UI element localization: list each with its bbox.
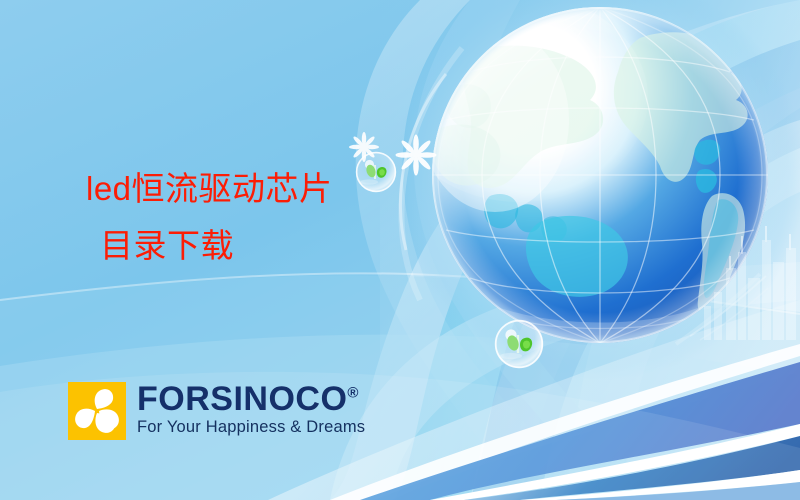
logo-text-block: FORSINOCO® For Your Happiness & Dreams (137, 382, 365, 437)
bubble-sprout-lower (495, 320, 543, 368)
logo-tagline: For Your Happiness & Dreams (137, 418, 365, 437)
logo-wordmark: FORSINOCO® (137, 383, 365, 416)
headline-line-2: 目录下载 (86, 225, 416, 268)
poster-canvas: led恒流驱动芯片 目录下载 FORSINOCO® For Your Happi… (0, 0, 800, 500)
registered-trademark-icon: ® (347, 385, 358, 402)
forsinoco-pinwheel-mark (68, 382, 126, 440)
headline-line-1: led恒流驱动芯片 (86, 170, 333, 207)
brand-logo[interactable]: FORSINOCO® For Your Happiness & Dreams (68, 382, 365, 440)
logo-wordmark-text: FORSINOCO (137, 380, 347, 418)
headline-block: led恒流驱动芯片 目录下载 (86, 168, 416, 268)
